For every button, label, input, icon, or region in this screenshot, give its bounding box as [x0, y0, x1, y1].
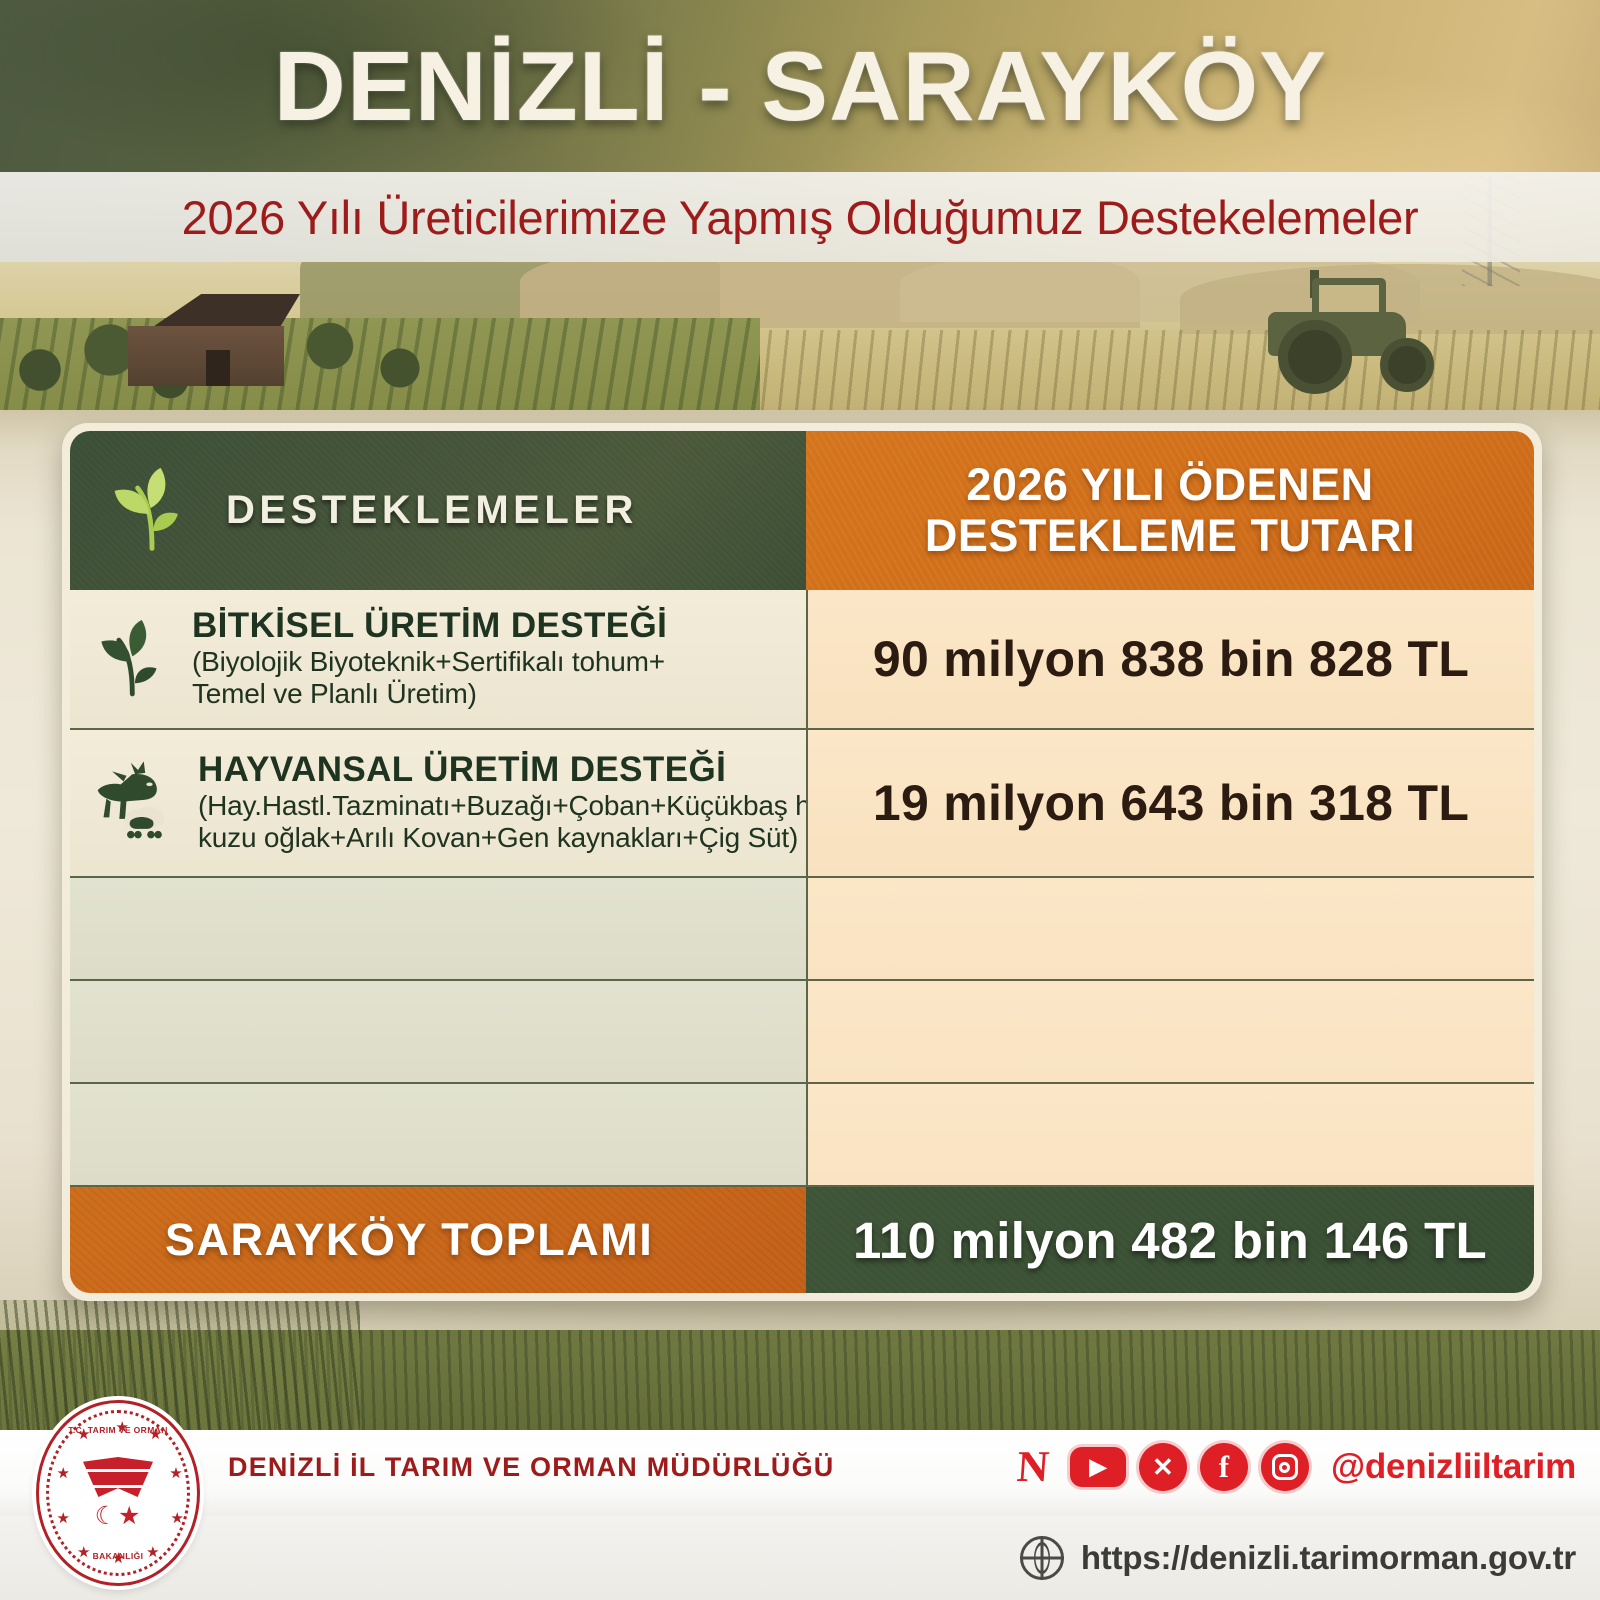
ministry-name: DENİZLİ İL TARIM VE ORMAN MÜDÜRLÜĞÜ [228, 1452, 834, 1483]
website-url: https://denizli.tarimorman.gov.tr [1081, 1539, 1576, 1577]
tractor-rear-wheel [1278, 320, 1352, 394]
row-text-block: HAYVANSAL ÜRETİM DESTEĞİ (Hay.Hastl.Tazm… [198, 751, 845, 854]
leaf-icon [106, 465, 198, 557]
row-label-cell-empty [70, 1084, 806, 1187]
row-amount-cell-empty [806, 1084, 1534, 1187]
row-subtitle-line2: kuzu oğlak+Arılı Kovan+Gen kaynakları+Çi… [198, 822, 845, 854]
instagram-icon[interactable] [1261, 1443, 1309, 1491]
column-header-amount-line1: 2026 YILI ÖDENEN [966, 460, 1373, 510]
nsosyal-icon[interactable]: N [1007, 1445, 1058, 1489]
total-amount: 110 milyon 482 bin 146 TL [853, 1211, 1487, 1270]
row-label-cell: HAYVANSAL ÜRETİM DESTEĞİ (Hay.Hastl.Tazm… [70, 730, 806, 878]
table-total-row: SARAYKÖY TOPLAMI 110 milyon 482 bin 146 … [70, 1187, 1534, 1293]
row-amount-cell: 19 milyon 643 bin 318 TL [806, 730, 1534, 878]
footer-band-bottom: https://denizli.tarimorman.gov.tr [0, 1516, 1600, 1600]
row-amount-cell-empty [806, 878, 1534, 981]
table-row: HAYVANSAL ÜRETİM DESTEĞİ (Hay.Hastl.Tazm… [70, 730, 1534, 878]
barn-illustration [110, 288, 300, 386]
globe-icon [1020, 1536, 1064, 1580]
row-amount-cell: 90 milyon 838 bin 828 TL [806, 590, 1534, 730]
row-label-cell-empty [70, 878, 806, 981]
crescent-star-icon: ☾★ [95, 1504, 142, 1529]
title-band: DENİZLİ - SARAYKÖY [0, 0, 1600, 172]
instagram-lens [1279, 1462, 1290, 1473]
emblem-center: ☾★ [72, 1441, 164, 1545]
total-amount-cell: 110 milyon 482 bin 146 TL [806, 1187, 1534, 1293]
row-label-cell: BİTKİSEL ÜRETİM DESTEĞİ (Biyolojik Biyot… [70, 590, 806, 730]
infographic-page: DENİZLİ - SARAYKÖY 2026 Yılı Üreticileri… [0, 0, 1600, 1600]
row-text-block: BİTKİSEL ÜRETİM DESTEĞİ (Biyolojik Biyot… [192, 607, 667, 710]
page-subtitle: 2026 Yılı Üreticilerimize Yapmış Olduğum… [182, 190, 1419, 245]
emblem-text-top: T.C. TARIM VE ORMAN [39, 1425, 197, 1435]
row-amount: 19 milyon 643 bin 318 TL [873, 774, 1469, 832]
subtitle-band: 2026 Yılı Üreticilerimize Yapmış Olduğum… [0, 172, 1600, 262]
tractor-illustration [1230, 272, 1445, 387]
row-subtitle-line2: Temel ve Planlı Üretim) [192, 678, 667, 710]
table-row-empty [70, 981, 1534, 1084]
row-label-cell-empty [70, 981, 806, 1084]
table-header-right: 2026 YILI ÖDENEN DESTEKLEME TUTARI [806, 431, 1534, 590]
social-handle: @denizliiltarim [1331, 1447, 1576, 1487]
instagram-square [1272, 1454, 1298, 1480]
row-amount: 90 milyon 838 bin 828 TL [873, 630, 1469, 688]
total-label: SARAYKÖY TOPLAMI [165, 1214, 653, 1266]
youtube-icon[interactable]: ▶ [1070, 1447, 1126, 1487]
support-table: DESTEKLEMELER 2026 YILI ÖDENEN DESTEKLEM… [70, 431, 1534, 1293]
row-subtitle-line1: (Hay.Hastl.Tazminatı+Buzağı+Çoban+Küçükb… [198, 790, 845, 822]
website-link[interactable]: https://denizli.tarimorman.gov.tr [1020, 1536, 1576, 1580]
row-title: HAYVANSAL ÜRETİM DESTEĞİ [198, 751, 845, 790]
x-icon[interactable]: ✕ [1139, 1443, 1187, 1491]
total-label-cell: SARAYKÖY TOPLAMI [70, 1187, 806, 1293]
column-header-amount-line2: DESTEKLEME TUTARI [925, 511, 1415, 561]
row-subtitle-line1: (Biyolojik Biyoteknik+Sertifikalı tohum+ [192, 646, 667, 678]
tractor-front-wheel [1380, 338, 1434, 392]
cattle-icon [92, 757, 184, 849]
leaf-icon [92, 616, 178, 702]
ministry-emblem: ★ ★ ★ ★ ★ ★ ★ ★ ★ ★ T.C. TARIM VE ORMAN … [36, 1400, 200, 1586]
facebook-icon[interactable]: f [1200, 1443, 1248, 1491]
barn-door [206, 350, 230, 386]
table-header-row: DESTEKLEMELER 2026 YILI ÖDENEN DESTEKLEM… [70, 431, 1534, 590]
table-header-left: DESTEKLEMELER [70, 431, 806, 590]
page-title: DENİZLİ - SARAYKÖY [273, 30, 1326, 143]
table-row: BİTKİSEL ÜRETİM DESTEĞİ (Biyolojik Biyot… [70, 590, 1534, 730]
emblem-bird-icon [83, 1457, 153, 1497]
emblem-text-bottom: BAKANLIĞI [39, 1551, 197, 1561]
table-row-empty [70, 1084, 1534, 1187]
social-links: N ▶ ✕ f @denizliiltarim [1009, 1443, 1576, 1491]
row-amount-cell-empty [806, 981, 1534, 1084]
table-row-empty [70, 878, 1534, 981]
column-header-supports: DESTEKLEMELER [226, 488, 638, 533]
support-table-card: DESTEKLEMELER 2026 YILI ÖDENEN DESTEKLEM… [62, 423, 1542, 1301]
row-title: BİTKİSEL ÜRETİM DESTEĞİ [192, 607, 667, 646]
